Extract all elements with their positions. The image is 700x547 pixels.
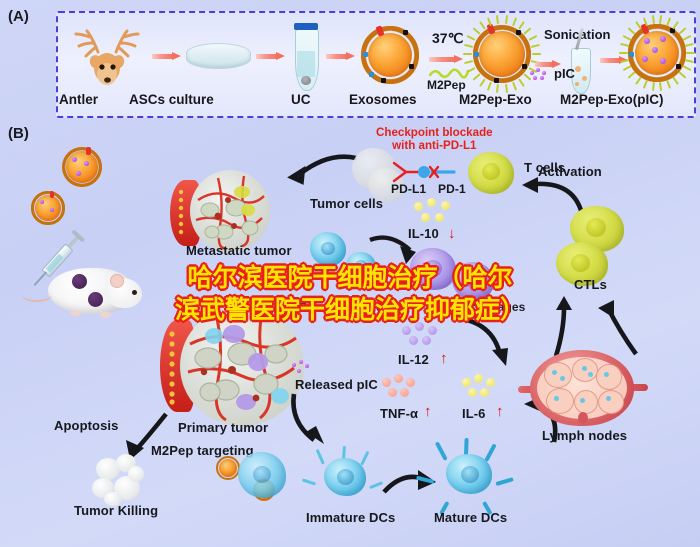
panel-a-tag: (A) bbox=[8, 8, 29, 25]
checkpoint-line-2: with anti-PD-L1 bbox=[392, 139, 476, 152]
figure-canvas: (A) Antler ASCs culture UC bbox=[0, 0, 700, 547]
il-6-label: IL-6 bbox=[462, 406, 486, 421]
flow-arrow-4 bbox=[429, 55, 463, 64]
sonicator-icon bbox=[567, 34, 595, 90]
step-label-m2pep-exo-pic: M2Pep-Exo(pIC) bbox=[560, 92, 664, 107]
primary-tumor-label: Primary tumor bbox=[178, 420, 268, 435]
checkpoint-blockade-label: Checkpoint blockade with anti-PD-L1 bbox=[376, 126, 493, 152]
ctls-label: CTLs bbox=[574, 277, 607, 292]
pic-dots-icon bbox=[530, 68, 552, 82]
arrow-to-ctls-left bbox=[534, 296, 582, 358]
il-10-direction: ↓ bbox=[448, 226, 456, 241]
arrow-tumor-to-metastatic bbox=[272, 152, 360, 200]
apoptosis-label: Apoptosis bbox=[54, 418, 118, 433]
flow-arrow-3 bbox=[326, 52, 355, 61]
centrifuge-tube-icon bbox=[295, 23, 317, 89]
mouse-icon bbox=[48, 262, 144, 320]
activation-label: Activation bbox=[538, 164, 602, 179]
tnf-alpha-molecules bbox=[382, 374, 424, 400]
m2pep-label: M2Pep bbox=[427, 78, 466, 92]
t-cell-icon bbox=[468, 152, 514, 194]
nanoparticle-icon-2 bbox=[30, 190, 66, 226]
petri-dish-icon bbox=[186, 43, 251, 69]
apoptotic-cells-icon bbox=[88, 452, 150, 508]
immature-dc-icon bbox=[312, 446, 378, 504]
il-6-molecules bbox=[462, 374, 504, 400]
arrow-to-ctls-right bbox=[590, 296, 646, 358]
targeted-macrophage bbox=[238, 452, 286, 498]
mature-dcs-label: Mature DCs bbox=[434, 510, 507, 525]
exosome-icon bbox=[359, 24, 421, 86]
lymph-nodes-label: Lymph nodes bbox=[542, 428, 627, 443]
flow-arrow-2 bbox=[256, 52, 285, 61]
flow-arrow-1 bbox=[152, 52, 181, 61]
pd-l1-label: PD-L1 bbox=[391, 182, 426, 196]
released-pic-dots bbox=[292, 360, 314, 376]
step-label-m2pep-exo: M2Pep-Exo bbox=[459, 92, 532, 107]
pd-1-label: PD-1 bbox=[438, 182, 466, 196]
deer-icon bbox=[72, 22, 146, 88]
tnf-alpha-direction: ↑ bbox=[424, 404, 432, 419]
tumor-cells-label: Tumor cells bbox=[310, 196, 383, 211]
temperature-annotation: 37℃ bbox=[432, 30, 463, 47]
nanoparticle-icon-1 bbox=[60, 145, 104, 189]
m2-macrophage-2 bbox=[346, 252, 376, 280]
il-6-direction: ↑ bbox=[496, 404, 504, 419]
m2pep-exosome-icon bbox=[470, 22, 534, 86]
step-label-uc: UC bbox=[291, 92, 311, 107]
m1-macrophages-label: M1 macrophages bbox=[426, 300, 525, 314]
m1-macrophage-1 bbox=[410, 248, 456, 290]
tumor-killing-label: Tumor Killing bbox=[74, 503, 158, 518]
il-10-molecules bbox=[414, 198, 460, 226]
tnf-alpha-label: TNF-α bbox=[380, 406, 418, 421]
step-label-antler: Antler bbox=[59, 92, 98, 107]
targeting-nanoparticle-1 bbox=[215, 455, 241, 481]
arrow-m1-to-lymph bbox=[450, 314, 528, 372]
lymph-node-icon bbox=[530, 350, 634, 426]
metastatic-tumor-label: Metastatic tumor bbox=[186, 243, 292, 258]
step-label-exosomes: Exosomes bbox=[349, 92, 417, 107]
m1-macrophage-2 bbox=[452, 262, 494, 300]
step-label-ascs: ASCs culture bbox=[129, 92, 214, 107]
arrow-idc-to-mdc bbox=[382, 468, 438, 502]
m2-macrophage-1 bbox=[310, 232, 346, 266]
checkpoint-line-1: Checkpoint blockade bbox=[376, 126, 493, 139]
panel-b-tag: (B) bbox=[8, 125, 29, 142]
m2pep-exosome-pic-icon bbox=[626, 22, 688, 84]
il-12-direction: ↑ bbox=[440, 351, 448, 366]
mature-dc-icon bbox=[432, 440, 506, 504]
arrow-pic-to-idc bbox=[288, 392, 344, 454]
immature-dcs-label: Immature DCs bbox=[306, 510, 395, 525]
released-pic-label: Released pIC bbox=[295, 377, 378, 392]
pic-label: pIC bbox=[554, 66, 575, 81]
il-12-label: IL-12 bbox=[398, 352, 429, 367]
il-12-molecules bbox=[402, 322, 448, 350]
